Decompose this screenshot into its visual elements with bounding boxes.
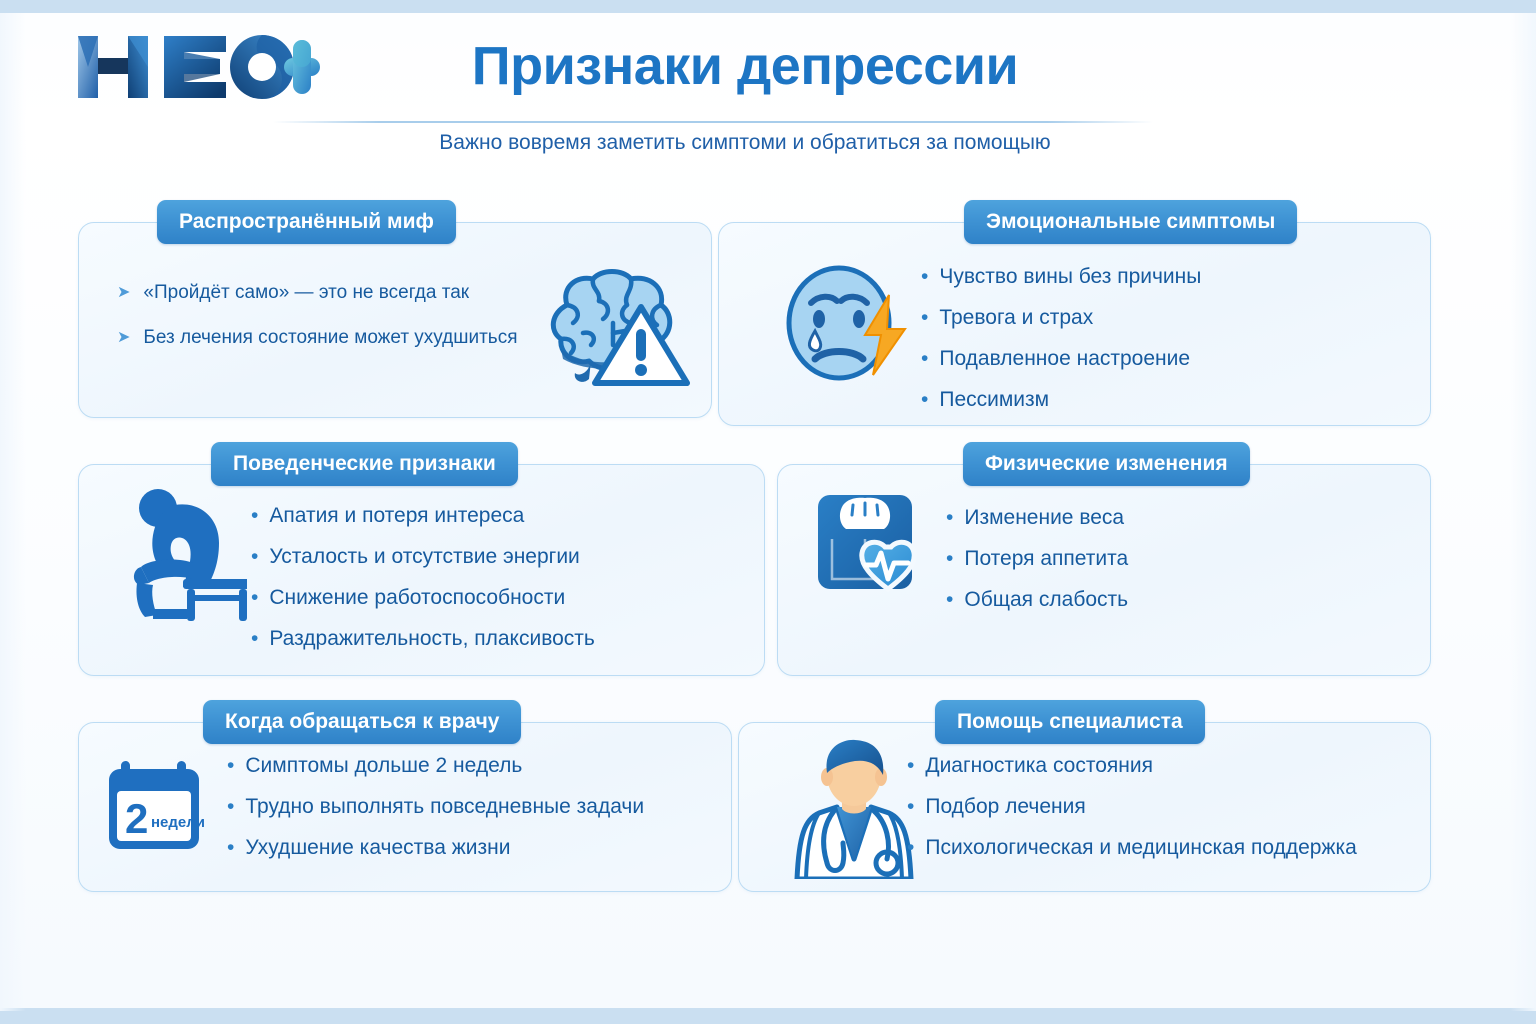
dot-bullet-icon: • — [946, 538, 953, 579]
bottom-edge-band — [0, 1011, 1536, 1024]
dot-bullet-icon: • — [227, 827, 234, 868]
list-item: • Ухудшение качества жизни — [227, 827, 644, 868]
card-physical: Физические изменения — [777, 464, 1431, 676]
infographic-page: Признаки депрессии Важно вовремя заметит… — [0, 0, 1536, 1024]
list-item-label: Без лечения состояние может ухудшиться — [143, 315, 517, 360]
scale-heartbeat-icon — [810, 485, 940, 620]
calendar-word: недели — [151, 814, 205, 831]
dot-bullet-icon: • — [907, 827, 914, 868]
card-when-to-see-doctor: Когда обращаться к врачу 2 недели • Симп… — [78, 722, 732, 892]
list-item-label: Чувство вины без причины — [939, 256, 1201, 297]
list-item: • Психологическая и медицинская поддержк… — [907, 827, 1357, 868]
card-emotional-list: • Чувство вины без причины • Тревога и с… — [921, 256, 1201, 420]
sitting-person-icon — [127, 483, 247, 628]
brain-warning-icon — [531, 261, 691, 396]
list-item-label: Симптомы дольше 2 недель — [245, 745, 522, 786]
list-item-label: Общая слабость — [964, 579, 1128, 620]
list-item: • Усталость и отсутствие энергии — [251, 536, 595, 577]
list-item: ➤ Без лечения состояние может ухудшиться — [117, 315, 518, 360]
page-subtitle: Важно вовремя заметить симптоми и обрати… — [330, 131, 1160, 155]
list-item-label: Раздражительность, плаксивость — [269, 618, 595, 659]
dot-bullet-icon: • — [251, 536, 258, 577]
dot-bullet-icon: • — [946, 497, 953, 538]
dot-bullet-icon: • — [921, 297, 928, 338]
list-item: • Апатия и потеря интереса — [251, 495, 595, 536]
dot-bullet-icon: • — [251, 577, 258, 618]
list-item: • Пессимизм — [921, 379, 1201, 420]
card-behavioral-list: • Апатия и потеря интереса • Усталость и… — [251, 495, 595, 659]
dot-bullet-icon: • — [251, 495, 258, 536]
list-item: • Раздражительность, плаксивость — [251, 618, 595, 659]
page-title: Признаки депрессии — [330, 30, 1160, 102]
list-item: • Общая слабость — [946, 579, 1128, 620]
card-physical-list: • Изменение веса • Потеря аппетита • Общ… — [946, 497, 1128, 620]
list-item-label: Ухудшение качества жизни — [245, 827, 510, 868]
list-item: • Подавленное настроение — [921, 338, 1201, 379]
dot-bullet-icon: • — [227, 786, 234, 827]
dot-bullet-icon: • — [921, 379, 928, 420]
list-item-label: Пессимизм — [939, 379, 1049, 420]
card-specialist-help-list: • Диагностика состояния • Подбор лечения… — [907, 745, 1357, 868]
dot-bullet-icon: • — [251, 618, 258, 659]
list-item: • Симптомы дольше 2 недель — [227, 745, 644, 786]
calendar-two-weeks-icon: 2 недели — [105, 755, 219, 860]
list-item-label: Психологическая и медицинская поддержка — [925, 827, 1356, 868]
list-item-label: Подбор лечения — [925, 786, 1085, 827]
list-item: • Снижение работоспособности — [251, 577, 595, 618]
list-item-label: Изменение веса — [964, 497, 1124, 538]
arrow-bullet-icon: ➤ — [117, 315, 130, 360]
sad-face-lightning-icon — [781, 259, 911, 394]
list-item-label: Подавленное настроение — [939, 338, 1190, 379]
list-item-label: Усталость и отсутствие энергии — [269, 536, 579, 577]
dot-bullet-icon: • — [907, 786, 914, 827]
card-specialist-help: Помощь специалиста — [738, 722, 1431, 892]
dot-bullet-icon: • — [921, 338, 928, 379]
list-item: • Подбор лечения — [907, 786, 1357, 827]
list-item-label: Трудно выполнять повседневные задачи — [245, 786, 644, 827]
card-myth: Распространённый миф ➤ «Пройдёт само» — … — [78, 222, 712, 418]
list-item-label: Тревога и страх — [939, 297, 1093, 338]
dot-bullet-icon: • — [946, 579, 953, 620]
dot-bullet-icon: • — [921, 256, 928, 297]
list-item: ➤ «Пройдёт само» — это не всегда так — [117, 270, 518, 315]
list-item-label: Диагностика состояния — [925, 745, 1153, 786]
dot-bullet-icon: • — [907, 745, 914, 786]
arrow-bullet-icon: ➤ — [117, 270, 130, 315]
list-item: • Чувство вины без причины — [921, 256, 1201, 297]
list-item: • Изменение веса — [946, 497, 1128, 538]
card-when-to-see-doctor-list: • Симптомы дольше 2 недель • Трудно выпо… — [227, 745, 644, 868]
card-behavioral: Поведенческие признаки — [78, 464, 765, 676]
list-item: • Тревога и страх — [921, 297, 1201, 338]
card-myth-list: ➤ «Пройдёт само» — это не всегда так ➤ Б… — [117, 270, 518, 360]
list-item-label: Апатия и потеря интереса — [269, 495, 524, 536]
header: Признаки депрессии Важно вовремя заметит… — [0, 0, 1536, 180]
dot-bullet-icon: • — [227, 745, 234, 786]
list-item-label: «Пройдёт само» — это не всегда так — [143, 270, 469, 315]
card-emotional: Эмоциональные симптомы • Чувство вины — [718, 222, 1431, 426]
neo-plus-logo — [72, 28, 322, 106]
calendar-number: 2 — [125, 795, 148, 842]
title-divider — [273, 121, 1153, 123]
list-item: • Потеря аппетита — [946, 538, 1128, 579]
list-item-label: Потеря аппетита — [964, 538, 1128, 579]
list-item: • Трудно выполнять повседневные задачи — [227, 786, 644, 827]
list-item-label: Снижение работоспособности — [269, 577, 565, 618]
list-item: • Диагностика состояния — [907, 745, 1357, 786]
